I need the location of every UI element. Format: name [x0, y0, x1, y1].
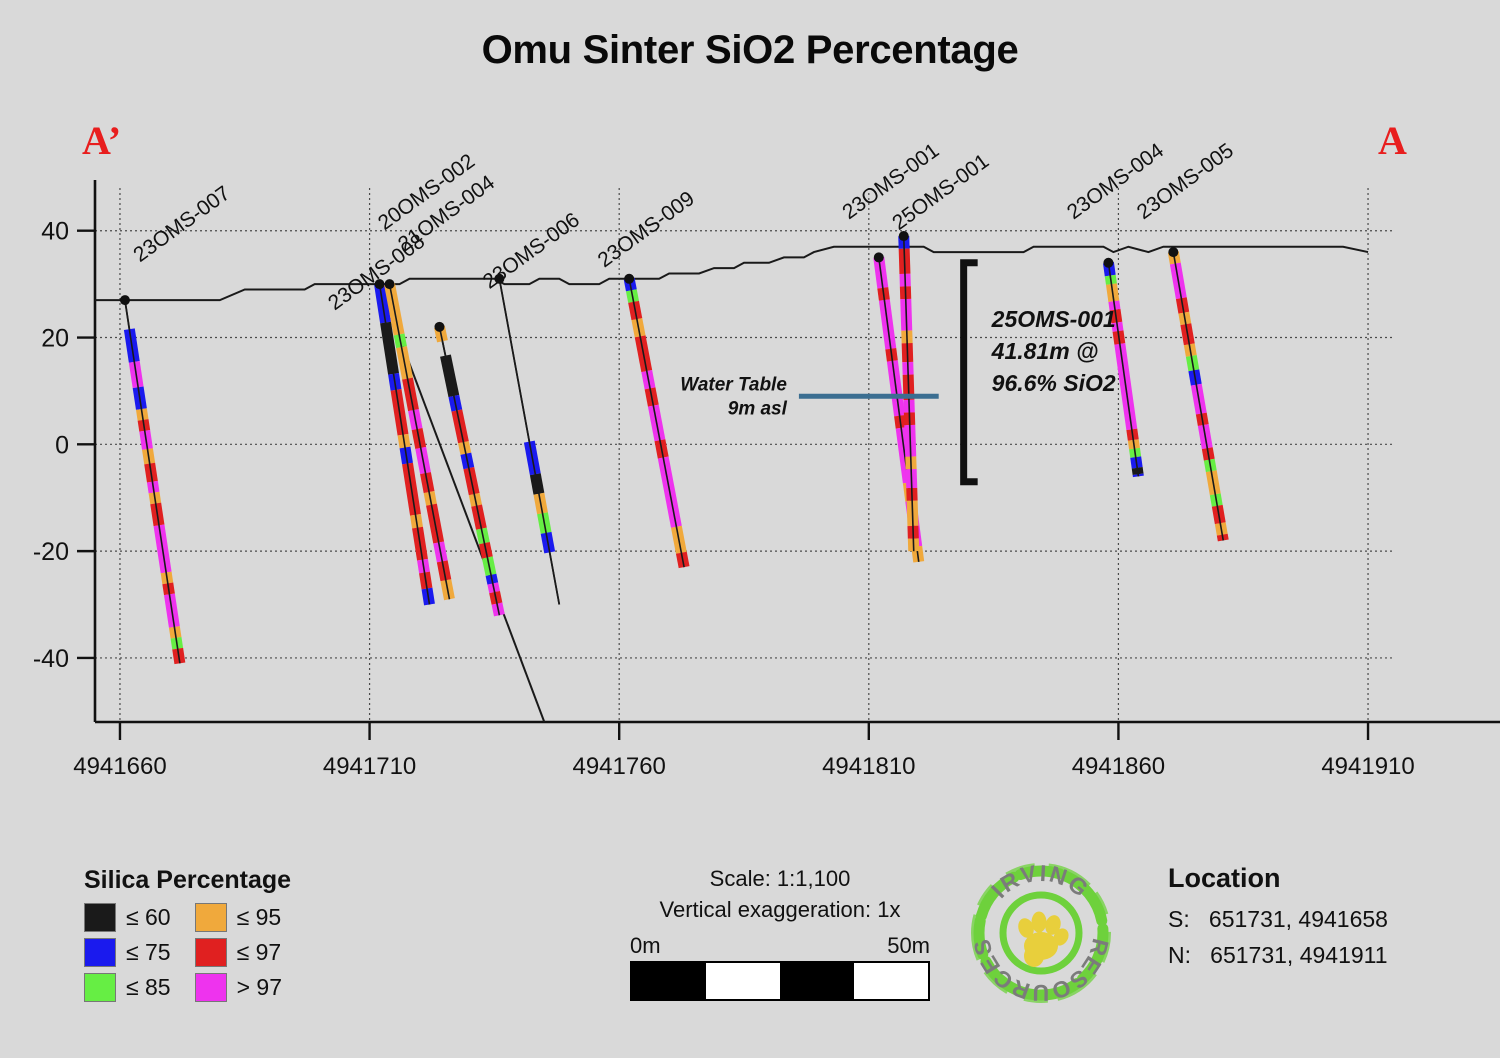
drillhole-trace-overlay	[499, 279, 559, 605]
legend-label: ≤ 95	[237, 904, 296, 931]
drillhole-collar	[1168, 247, 1178, 257]
scalebar-segment	[780, 963, 854, 999]
y-tick-label: -40	[33, 645, 69, 673]
x-tick-label: 4941760	[572, 753, 665, 780]
scalebar-end-label: 50m	[887, 933, 930, 959]
irving-resources-logo: IRVINGRESOURCES	[966, 858, 1116, 1008]
drillhole-trace-overlay	[629, 279, 684, 567]
legend-swatch	[84, 938, 116, 967]
y-tick-label: 0	[55, 431, 69, 459]
legend-swatch	[84, 973, 116, 1002]
scalebar-start-label: 0m	[630, 933, 661, 959]
intercept-label: 25OMS-001	[991, 306, 1116, 332]
water-table-label: 9m asl	[728, 398, 788, 419]
drillhole	[1168, 247, 1223, 540]
y-tick-label: -20	[33, 538, 69, 566]
location-row: N: 651731, 4941911	[1168, 942, 1388, 969]
y-tick-label: 20	[41, 325, 69, 353]
x-tick-label: 4941660	[73, 753, 166, 780]
x-tick-label: 4941910	[1321, 753, 1414, 780]
legend-swatch	[195, 903, 227, 932]
drillhole-collar	[1103, 258, 1113, 268]
location-title: Location	[1168, 863, 1388, 894]
x-tick-label: 4941860	[1072, 753, 1165, 780]
drillhole-collar	[385, 279, 395, 289]
legend-swatch	[84, 903, 116, 932]
legend-label: > 97	[237, 974, 296, 1001]
location-block: Location S: 651731, 4941658N: 651731, 49…	[1168, 863, 1388, 978]
legend-swatch	[195, 938, 227, 967]
legend-label: ≤ 60	[126, 904, 185, 931]
drillhole-label: 23OMS-006	[479, 208, 584, 293]
drillhole-collar	[434, 322, 444, 332]
drillhole-collar	[874, 252, 884, 262]
scalebar-segment	[632, 963, 706, 999]
scale-block: Scale: 1:1,100 Vertical exaggeration: 1x…	[630, 866, 930, 1001]
drillhole-trace-overlay	[1173, 252, 1223, 540]
vertical-exaggeration: Vertical exaggeration: 1x	[630, 897, 930, 923]
intercept-bracket	[964, 263, 978, 482]
legend-label: ≤ 85	[126, 974, 185, 1001]
drillhole-collar	[120, 295, 130, 305]
legend-label: ≤ 97	[237, 939, 296, 966]
x-tick-label: 4941710	[323, 753, 416, 780]
scalebar-segment	[706, 963, 780, 999]
drillhole	[624, 274, 684, 567]
scale-ratio: Scale: 1:1,100	[630, 866, 930, 892]
drillhole-label: 23OMS-007	[129, 182, 234, 267]
legend-label: ≤ 75	[126, 939, 185, 966]
legend-items: ≤ 60≤ 95≤ 75≤ 97≤ 85> 97	[84, 903, 296, 1002]
legend-swatch	[195, 973, 227, 1002]
drillhole-collar	[624, 274, 634, 284]
location-row: S: 651731, 4941658	[1168, 906, 1388, 933]
y-tick-label: 40	[41, 218, 69, 246]
scale-bar	[630, 961, 930, 1001]
drillhole	[120, 295, 180, 663]
drillhole	[494, 274, 559, 605]
x-tick-label: 4941810	[822, 753, 915, 780]
legend: Silica Percentage ≤ 60≤ 95≤ 75≤ 97≤ 85> …	[84, 866, 296, 1002]
scalebar-segment	[854, 963, 928, 999]
drillhole	[1103, 258, 1138, 477]
intercept-label: 41.81m @	[991, 338, 1099, 364]
water-table-label: Water Table	[680, 374, 787, 395]
drillhole-trace-overlay	[125, 300, 180, 663]
drillhole-label: 23OMS-009	[594, 187, 699, 272]
legend-title: Silica Percentage	[84, 866, 296, 895]
intercept-label: 96.6% SiO2	[992, 370, 1116, 396]
